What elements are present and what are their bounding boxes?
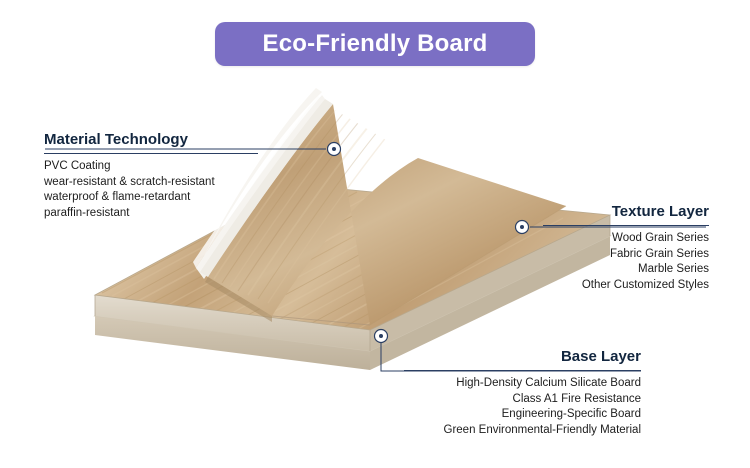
callout-material-technology-title: Material Technology (44, 131, 258, 149)
diagram-canvas: Eco-Friendly Board (0, 0, 750, 468)
bullet-line: High-Density Calcium Silicate Board (404, 376, 641, 392)
callout-material-technology-bullets: PVC Coating wear-resistant & scratch-res… (44, 159, 258, 221)
callout-base-layer-rule (404, 370, 641, 371)
bullet-line: PVC Coating (44, 159, 258, 175)
callout-texture-layer: Texture Layer Wood Grain Series Fabric G… (543, 203, 709, 293)
bullet-line: waterproof & flame-retardant (44, 190, 258, 206)
bullet-line: wear-resistant & scratch-resistant (44, 175, 258, 191)
bullet-line: Engineering-Specific Board (404, 407, 641, 423)
callout-base-layer: Base Layer High-Density Calcium Silicate… (404, 348, 641, 438)
bullet-line: Marble Series (543, 262, 709, 278)
bullet-line: Fabric Grain Series (543, 247, 709, 263)
bullet-line: Green Environmental-Friendly Material (404, 423, 641, 439)
bullet-line: Wood Grain Series (543, 231, 709, 247)
callout-material-technology: Material Technology PVC Coating wear-res… (44, 131, 258, 221)
marker-texture-layer (516, 221, 529, 234)
bullet-line: Other Customized Styles (543, 278, 709, 294)
callout-texture-layer-bullets: Wood Grain Series Fabric Grain Series Ma… (543, 231, 709, 293)
callout-base-layer-title: Base Layer (404, 348, 641, 366)
callout-texture-layer-title: Texture Layer (543, 203, 709, 221)
callout-base-layer-bullets: High-Density Calcium Silicate Board Clas… (404, 376, 641, 438)
bullet-line: paraffin-resistant (44, 206, 258, 222)
callout-texture-layer-rule (543, 225, 709, 226)
marker-material-technology (328, 143, 341, 156)
marker-base-layer (375, 330, 388, 343)
callout-material-technology-rule (44, 153, 258, 154)
bullet-line: Class A1 Fire Resistance (404, 392, 641, 408)
